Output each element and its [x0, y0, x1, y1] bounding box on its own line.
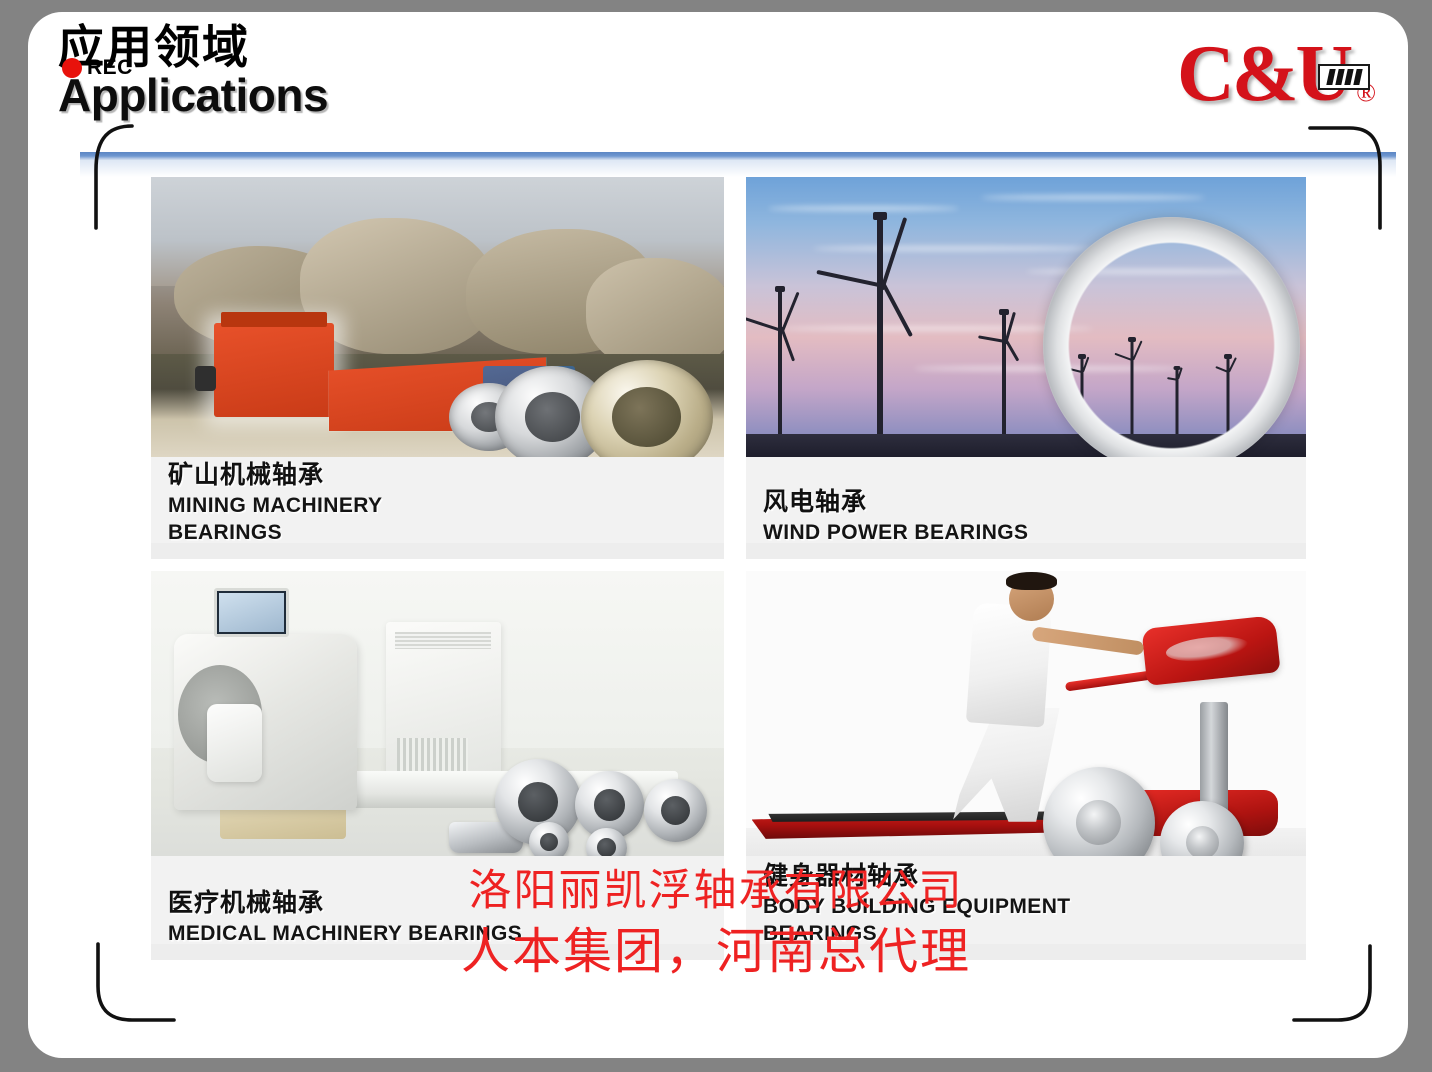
recording-indicator: REC: [62, 56, 133, 80]
card-title-english-line2: BEARINGS: [763, 921, 1071, 946]
header-divider: [80, 152, 1396, 161]
card-title-english-line1: BODY BUILDING EQUIPMENT: [763, 894, 1071, 919]
mining-machinery-photo: [151, 172, 724, 457]
presentation-slide: 应用领域 Applications C&U ®: [28, 12, 1408, 1058]
card-caption: 医疗机械轴承 MEDICAL MACHINERY BEARINGS: [168, 887, 522, 946]
cu-brand-logo: C&U ®: [1177, 34, 1376, 114]
application-card-mining[interactable]: 矿山机械轴承 MINING MACHINERY BEARINGS: [151, 172, 724, 559]
record-dot-icon: [62, 58, 82, 78]
card-title-english-line1: MEDICAL MACHINERY BEARINGS: [168, 921, 522, 946]
application-card-wind-power[interactable]: 风电轴承 WIND POWER BEARINGS: [746, 172, 1306, 559]
card-bottom-strip: [746, 944, 1306, 960]
card-title-chinese: 矿山机械轴承: [168, 459, 382, 491]
card-title-english-line2: BEARINGS: [168, 520, 382, 545]
striped-bars-icon: [1318, 64, 1370, 90]
card-title-chinese: 风电轴承: [763, 486, 1028, 518]
bracket-top-left-icon: [74, 122, 134, 232]
card-caption: 风电轴承 WIND POWER BEARINGS: [763, 486, 1028, 545]
wind-turbines-photo: [746, 172, 1306, 457]
slewing-ring-bearing: [1043, 217, 1301, 458]
card-bottom-strip: [746, 543, 1306, 559]
application-card-body-building[interactable]: 健身器材轴承 BODY BUILDING EQUIPMENT BEARINGS: [746, 571, 1306, 960]
card-title-english-line1: WIND POWER BEARINGS: [763, 520, 1028, 545]
application-card-medical[interactable]: 医疗机械轴承 MEDICAL MACHINERY BEARINGS: [151, 571, 724, 960]
record-label: REC: [87, 56, 133, 80]
card-caption: 健身器材轴承 BODY BUILDING EQUIPMENT BEARINGS: [763, 860, 1071, 946]
card-caption: 矿山机械轴承 MINING MACHINERY BEARINGS: [168, 459, 382, 545]
card-bottom-strip: [151, 543, 724, 559]
screenshot-root: 应用领域 Applications C&U ®: [0, 0, 1432, 1072]
bracket-bottom-right-icon: [1290, 942, 1386, 1028]
divider-fade: [80, 161, 1396, 177]
treadmill-exercise-photo: [746, 571, 1306, 856]
card-title-chinese: 健身器材轴承: [763, 860, 1071, 892]
card-bottom-strip: [151, 944, 724, 960]
bracket-top-right-icon: [1306, 124, 1386, 232]
medical-ct-scanner-photo: [151, 571, 724, 856]
card-title-english-line1: MINING MACHINERY: [168, 493, 382, 518]
applications-grid: 矿山机械轴承 MINING MACHINERY BEARINGS: [151, 172, 1306, 960]
card-title-chinese: 医疗机械轴承: [168, 887, 522, 919]
bracket-bottom-left-icon: [86, 940, 178, 1026]
